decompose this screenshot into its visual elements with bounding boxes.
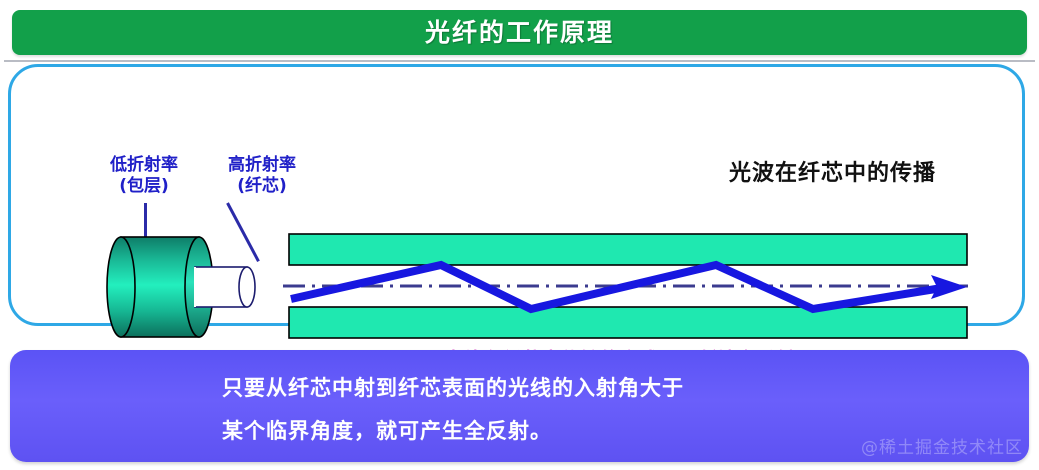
diagram-card: 低折射率 (包层) 高折射率 (纤芯) 光波在纤芯中的传播 bbox=[8, 64, 1025, 326]
label-core-line1: 高折射率 bbox=[207, 155, 317, 176]
conclusion-box: 只要从纤芯中射到纤芯表面的光线的入射角大于 某个临界角度，就可产生全反射。 @稀… bbox=[10, 350, 1029, 462]
conclusion-line-1: 只要从纤芯中射到纤芯表面的光线的入射角大于 bbox=[222, 372, 684, 402]
fiber-cylinder-icon bbox=[99, 225, 299, 345]
slide-root: 光纤的工作原理 低折射率 (包层) 高折射率 (纤芯) 光波在纤芯中的传播 bbox=[0, 0, 1039, 470]
heading-propagation: 光波在纤芯中的传播 bbox=[729, 155, 936, 187]
total-internal-reflection-ray-icon bbox=[283, 227, 973, 347]
slide-title-bar: 光纤的工作原理 bbox=[12, 10, 1027, 55]
label-cladding: 低折射率 (包层) bbox=[89, 155, 199, 198]
label-cladding-line1: 低折射率 bbox=[89, 155, 199, 176]
label-cladding-line2: (包层) bbox=[89, 176, 199, 197]
page-title: 光纤的工作原理 bbox=[425, 20, 614, 45]
label-core-line2: (纤芯) bbox=[207, 176, 317, 197]
conclusion-line-2: 某个临界角度，就可产生全反射。 bbox=[222, 415, 552, 445]
watermark: @稀土掘金技术社区 bbox=[861, 433, 1023, 458]
title-divider bbox=[4, 60, 1035, 62]
label-core: 高折射率 (纤芯) bbox=[207, 155, 317, 198]
